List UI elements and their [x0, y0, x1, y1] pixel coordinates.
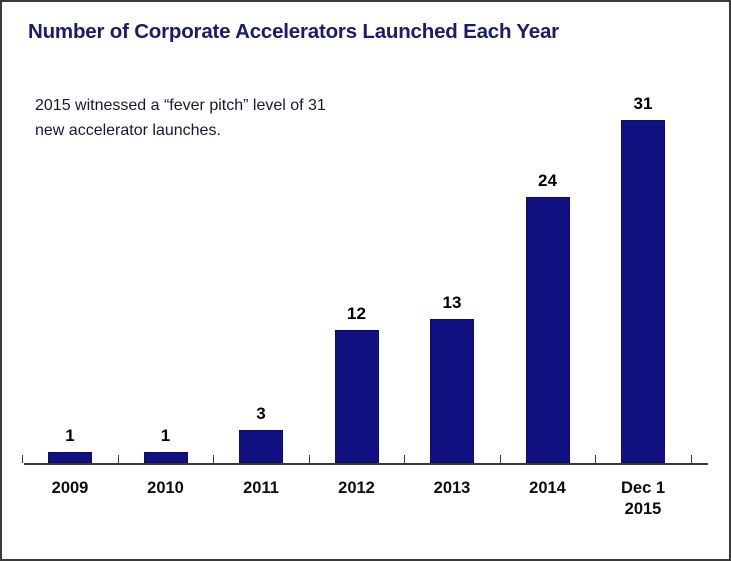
x-axis-category-label: Dec 12015 — [593, 478, 693, 520]
category-label-line-1: 2014 — [498, 478, 598, 499]
x-axis-tick — [500, 455, 501, 463]
bar-value-label: 3 — [221, 404, 301, 424]
x-axis-tick — [309, 455, 310, 463]
category-label-line-1: Dec 1 — [593, 478, 693, 499]
category-label-line-1: 2012 — [307, 478, 407, 499]
x-axis-tick — [404, 455, 405, 463]
x-axis-line — [24, 463, 708, 465]
bar — [621, 120, 665, 463]
bar — [48, 452, 92, 463]
x-axis-tick — [118, 455, 119, 463]
bar-value-label: 31 — [603, 94, 683, 114]
x-axis-category-label: 2013 — [402, 478, 502, 499]
plot-area: 12009120103201112201213201324201431Dec 1… — [2, 2, 729, 559]
x-axis-tick — [691, 455, 692, 463]
category-label-line-2: 2015 — [593, 499, 693, 520]
bar — [335, 330, 379, 463]
chart-canvas: Number of Corporate Accelerators Launche… — [2, 2, 729, 559]
bar-value-label: 24 — [508, 171, 588, 191]
category-label-line-1: 2010 — [116, 478, 216, 499]
bar-value-label: 13 — [412, 293, 492, 313]
bar — [430, 319, 474, 463]
bar — [526, 197, 570, 463]
category-label-line-1: 2009 — [20, 478, 120, 499]
category-label-line-1: 2011 — [211, 478, 311, 499]
x-axis-category-label: 2014 — [498, 478, 598, 499]
bar-value-label: 1 — [126, 426, 206, 446]
x-axis-category-label: 2009 — [20, 478, 120, 499]
x-axis-category-label: 2010 — [116, 478, 216, 499]
bar — [144, 452, 188, 463]
x-axis-category-label: 2011 — [211, 478, 311, 499]
x-axis-tick — [595, 455, 596, 463]
x-axis-category-label: 2012 — [307, 478, 407, 499]
bar-value-label: 12 — [317, 304, 397, 324]
x-axis-tick — [213, 455, 214, 463]
bar — [239, 430, 283, 463]
bar-value-label: 1 — [30, 426, 110, 446]
x-axis-tick — [22, 455, 23, 463]
chart-frame: Number of Corporate Accelerators Launche… — [0, 0, 731, 561]
category-label-line-1: 2013 — [402, 478, 502, 499]
